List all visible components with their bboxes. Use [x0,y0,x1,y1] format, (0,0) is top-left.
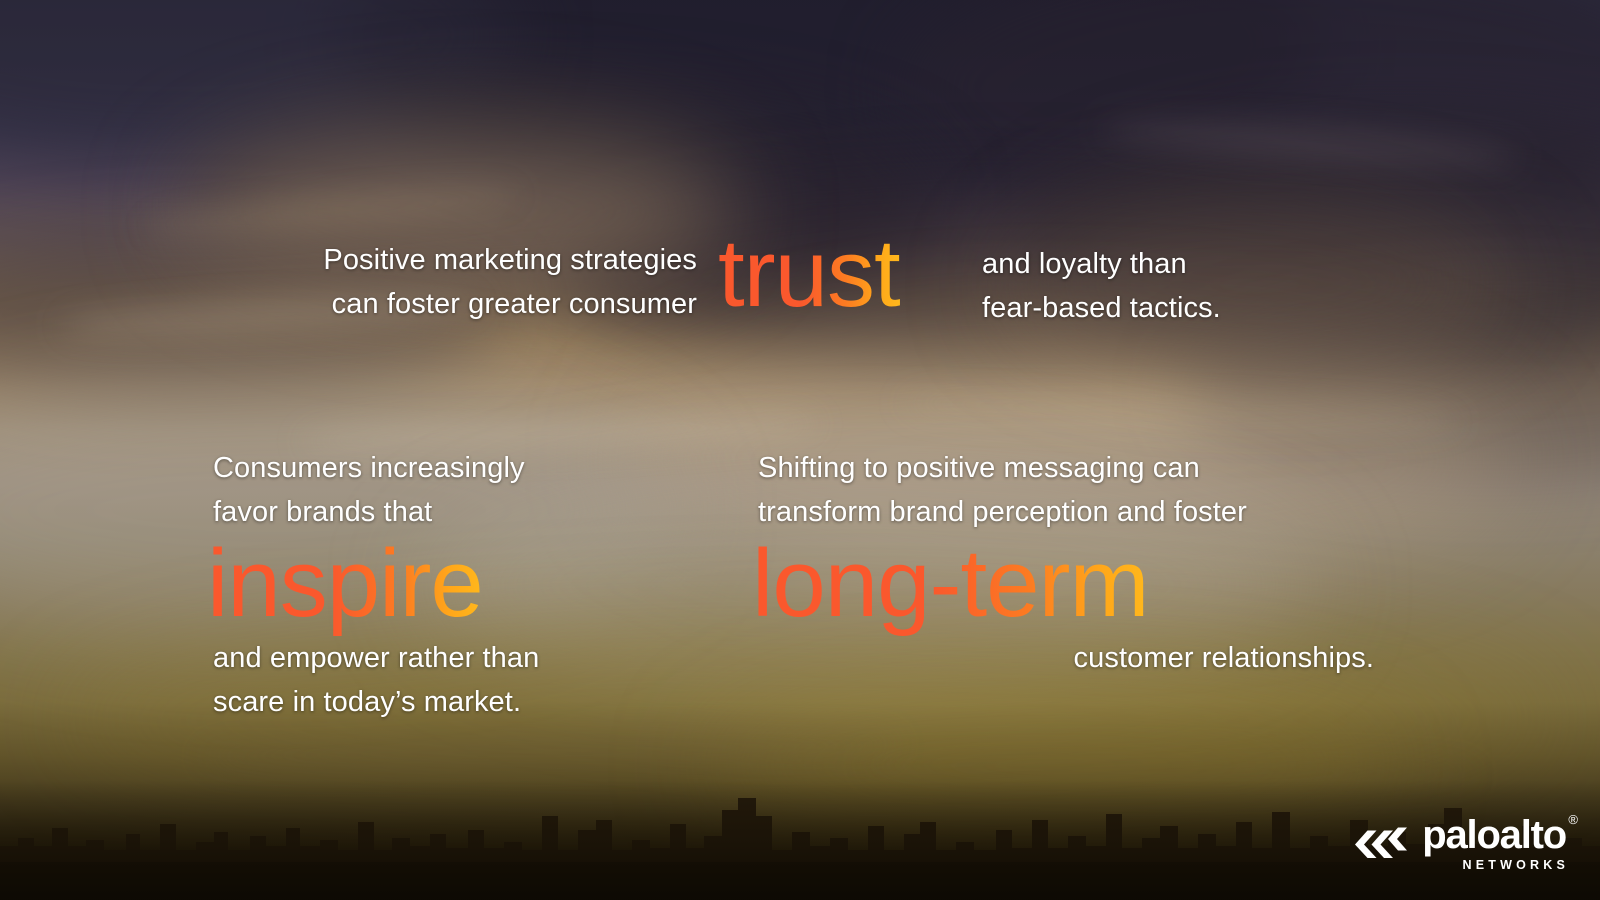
statement-bottom-right-lead-line2: transform brand perception and foster [758,490,1558,534]
statement-bottom-right-hero-word-container: long-term [752,536,1558,632]
slide-canvas: Positive marketing strategies can foster… [0,0,1600,900]
statement-top-tail: and loyalty than fear-based tactics. [982,242,1221,330]
paloalto-bars-icon [1355,820,1409,858]
hero-word-inspire: inspire [207,530,483,637]
statement-top: Positive marketing strategies can foster… [0,238,1600,348]
statement-bottom-right: Shifting to positive messaging can trans… [758,446,1558,680]
statement-bottom-left-lead-line1: Consumers increasingly [213,446,813,490]
hero-word-trust: trust [718,220,900,327]
logo-word-text: paloalto [1422,813,1566,857]
registered-trademark-icon: ® [1568,813,1578,826]
paloalto-wordmark: paloalto ® NETWORKS [1422,815,1566,872]
statement-bottom-right-tail-line1: customer relationships. [758,636,1374,680]
logo-subtitle-networks: NETWORKS [1462,858,1569,872]
statement-bottom-right-lead-line1: Shifting to positive messaging can [758,446,1558,490]
statement-top-tail-line2: fear-based tactics. [982,286,1221,330]
statement-top-tail-line1: and loyalty than [982,242,1221,286]
statement-top-lead-line2: can foster greater consumer [0,282,697,326]
statement-bottom-left-tail-line1: and empower rather than [213,636,813,680]
statement-bottom-left-hero-word-container: inspire [207,536,813,632]
statement-bottom-right-tail: customer relationships. [758,636,1558,680]
statement-top-lead-line1: Positive marketing strategies [0,238,697,282]
paloalto-networks-logo: paloalto ® NETWORKS [1355,815,1566,872]
statement-bottom-left-lead: Consumers increasingly favor brands that [213,446,813,534]
statement-bottom-left-tail: and empower rather than scare in today’s… [213,636,813,724]
statement-top-lead: Positive marketing strategies can foster… [0,238,697,326]
statement-bottom-left-lead-line2: favor brands that [213,490,813,534]
statement-bottom-left-tail-line2: scare in today’s market. [213,680,813,724]
slide-content: Positive marketing strategies can foster… [0,0,1600,900]
statement-bottom-right-lead: Shifting to positive messaging can trans… [758,446,1558,534]
logo-word-paloalto: paloalto ® [1422,815,1566,855]
statement-bottom-left: Consumers increasingly favor brands that… [213,446,813,724]
hero-word-long-term: long-term [752,530,1148,637]
statement-top-hero-word-container: trust [718,226,900,322]
